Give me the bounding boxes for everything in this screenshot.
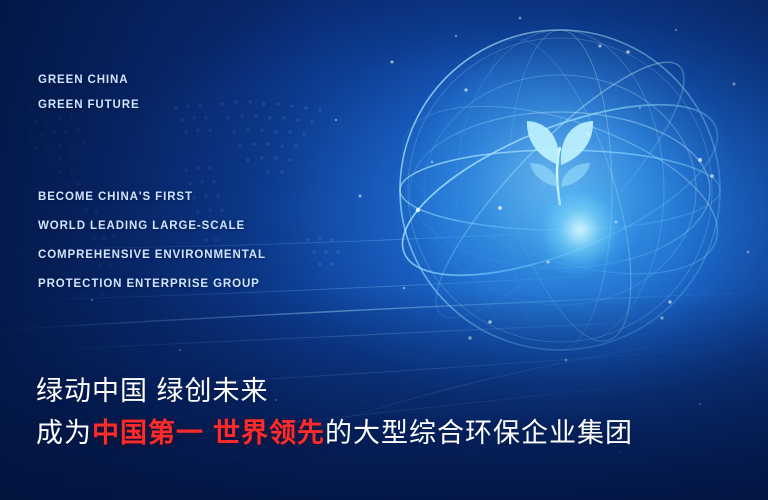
chinese-headline-line1: 绿动中国 绿创未来 (36, 373, 633, 410)
english-statement: BECOME CHINA'S FIRST WORLD LEADING LARGE… (38, 183, 266, 299)
chinese-suffix: 的大型综合环保企业集团 (325, 418, 633, 448)
english-tagline-line: GREEN FUTURE (38, 93, 140, 118)
english-statement-line: PROTECTION ENTERPRISE GROUP (38, 270, 266, 299)
chinese-prefix: 成为 (36, 418, 92, 448)
chinese-headline-line2: 成为中国第一世界领先的大型综合环保企业集团 (36, 415, 633, 452)
english-statement-line: BECOME CHINA'S FIRST (38, 183, 266, 212)
hero-banner: GREEN CHINA GREEN FUTURE BECOME CHINA'S … (0, 0, 768, 500)
english-statement-line: WORLD LEADING LARGE-SCALE (38, 212, 266, 241)
chinese-headline: 绿动中国 绿创未来 成为中国第一世界领先的大型综合环保企业集团 (36, 373, 633, 453)
english-tagline-line: GREEN CHINA (38, 68, 140, 93)
english-statement-line: COMPREHENSIVE ENVIRONMENTAL (38, 241, 266, 270)
chinese-highlight-a: 中国第一 (92, 418, 204, 448)
english-tagline-top: GREEN CHINA GREEN FUTURE (38, 68, 140, 118)
chinese-highlight-b: 世界领先 (213, 418, 325, 448)
